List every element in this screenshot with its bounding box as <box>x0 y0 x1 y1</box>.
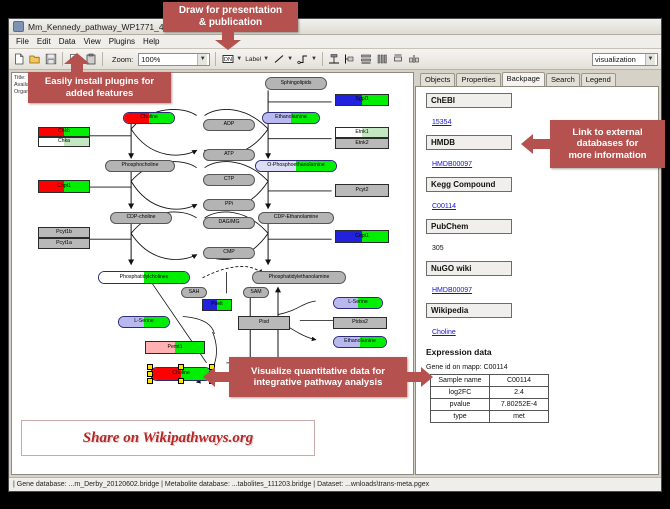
node-label: PPi <box>225 202 233 207</box>
selection-handle[interactable] <box>147 378 153 384</box>
db-entry-wikipedia: Wikipedia Choline <box>426 303 650 345</box>
new-file-icon[interactable] <box>12 53 25 66</box>
menu-item-help[interactable]: Help <box>139 35 163 48</box>
metabolite-node-ethanolamine-bottom[interactable]: Ethanolamine <box>333 336 387 348</box>
metabolite-node-cdp-choline[interactable]: CDP-choline <box>110 212 172 224</box>
callout-visualize-line2: integrative pathway analysis <box>254 377 383 388</box>
datanode-tool-icon[interactable]: DN <box>221 53 234 66</box>
gene-node-cept1[interactable]: Cept1 <box>335 230 389 243</box>
expression-table: Sample name C00114 log2FC 2.4 pvalue 7.8… <box>430 374 549 423</box>
callout-plugins-line1: Easily install plugins for <box>45 76 154 87</box>
tab-legend[interactable]: Legend <box>581 73 616 86</box>
db-name-wikipedia: Wikipedia <box>426 303 512 318</box>
chevron-down-icon: ▼ <box>645 54 655 65</box>
callout-draw-arrow-icon <box>213 32 243 50</box>
align-top-icon[interactable] <box>328 53 341 66</box>
chevron-down-icon[interactable]: ▼ <box>287 56 293 62</box>
metabolite-node-ctp[interactable]: CTP <box>203 174 255 186</box>
cell-key: log2FC <box>431 387 490 399</box>
node-label: Phosphatidylcholines <box>120 275 169 280</box>
cell-key: Sample name <box>431 375 490 387</box>
menu-item-plugins[interactable]: Plugins <box>105 35 139 48</box>
node-label: L-Serine <box>134 319 154 324</box>
title-bar: Mm_Kennedy_pathway_WP1771_45176.gpml <box>9 19 661 35</box>
status-text: | Gene database: ...m_Derby_20120602.bri… <box>13 481 429 488</box>
zoom-label: Zoom: <box>112 55 133 64</box>
node-label: Pisd <box>259 320 269 325</box>
node-label: CDP-Ethanolamine <box>274 215 318 220</box>
table-row: pvalue 7.80252E-4 <box>431 399 549 411</box>
metabolite-node-choline-top[interactable]: Choline <box>123 112 175 124</box>
chevron-down-icon[interactable]: ▼ <box>311 56 317 62</box>
node-label: SAH <box>189 290 200 295</box>
node-label: Pcyt2 <box>356 188 369 193</box>
node-label: Pemt1 <box>168 345 183 350</box>
metabolite-node-l-serine-right[interactable]: L-Serine <box>333 297 383 309</box>
node-label: Pcyt1b <box>56 230 72 235</box>
db-entry-kegg: Kegg Compound C00114 <box>426 177 650 219</box>
db-name-hmdb: HMDB <box>426 135 512 150</box>
visualization-value: visualization <box>595 55 636 64</box>
metabolite-node-sphingolipids[interactable]: Sphingolipids <box>265 77 327 90</box>
chevron-down-icon[interactable]: ▼ <box>236 56 242 62</box>
node-label: Ptdss2 <box>352 320 368 325</box>
cell-value: met <box>490 411 549 423</box>
metabolite-node-phosphocholine[interactable]: Phosphocholine <box>105 160 175 172</box>
label-tool-label[interactable]: Label <box>245 56 261 63</box>
cell-value: 7.80252E-4 <box>490 399 549 411</box>
save-icon[interactable] <box>44 53 57 66</box>
selection-handle[interactable] <box>147 364 153 370</box>
callout-link-line1: Link to external <box>572 127 642 138</box>
same-height-icon[interactable] <box>392 53 405 66</box>
callout-draw-line1: Draw for presentation <box>179 5 282 17</box>
db-name-nugo: NuGO wiki <box>426 261 512 276</box>
callout-link-external-databases: Link to external databases for more info… <box>550 120 665 168</box>
zoom-combobox[interactable]: 100% ▼ <box>138 53 210 66</box>
tab-objects[interactable]: Objects <box>420 73 455 86</box>
table-row: type met <box>431 411 549 423</box>
gene-node-pcyt1b[interactable]: Pcyt1b <box>38 227 90 238</box>
node-label: Sgpl1 <box>355 97 368 102</box>
node-label: Chpt1 <box>57 184 71 189</box>
node-label: Pcyt1a <box>56 241 72 246</box>
gene-node-etnk2[interactable]: Etnk2 <box>335 138 389 149</box>
metabolite-node-dagmg[interactable]: DAG/MG <box>203 217 255 229</box>
db-entry-pubchem: PubChem 305 <box>426 219 650 261</box>
node-label: Etnk2 <box>355 141 368 146</box>
gene-node-pemt1[interactable]: Pemt1 <box>145 341 205 354</box>
gene-node-chkb[interactable]: Chkb <box>38 127 90 137</box>
node-label: Phosphocholine <box>122 163 159 168</box>
meta-availability: Availa <box>14 82 29 89</box>
connector-tool-icon[interactable] <box>296 53 309 66</box>
gene-id-label: Gene id on mapp: C00114 <box>426 364 650 371</box>
db-name-chebi: ChEBI <box>426 93 512 108</box>
node-label: Chkb <box>58 129 70 134</box>
node-label: ATP <box>224 152 234 157</box>
tab-backpage[interactable]: Backpage <box>502 72 545 86</box>
cell-value: C00114 <box>490 375 549 387</box>
callout-plugins-arrow-icon <box>62 53 92 73</box>
selection-handle[interactable] <box>147 371 153 377</box>
node-label: L-Serine <box>348 300 368 305</box>
pathway-node-layer: SphingolipidsCholineEthanolamineADPATPPh… <box>12 73 413 474</box>
pathway-metadata: Title: Availa Organ <box>14 75 29 96</box>
node-label: CTP <box>224 177 234 182</box>
visualization-combobox[interactable]: visualization ▼ <box>592 53 658 66</box>
db-link-kegg[interactable]: C00114 <box>432 203 456 210</box>
app-icon <box>13 21 24 32</box>
gene-node-sgpl1[interactable]: Sgpl1 <box>335 94 389 106</box>
distribute-icon[interactable] <box>408 53 421 66</box>
meta-organism: Organ <box>14 89 29 96</box>
node-label: Cept1 <box>355 234 369 239</box>
table-row: Sample name C00114 <box>431 375 549 387</box>
metabolite-node-atp[interactable]: ATP <box>203 149 255 161</box>
callout-visualize-right-arrow-icon <box>403 366 433 388</box>
callout-easily-install-plugins: Easily install plugins for added feature… <box>28 72 171 103</box>
db-link-nugo[interactable]: HMDB00097 <box>432 287 472 294</box>
node-label: Choline <box>172 371 190 376</box>
gene-node-etnk1[interactable]: Etnk1 <box>335 127 389 138</box>
side-panel-tabs: Objects Properties Backpage Search Legen… <box>415 72 659 86</box>
menu-item-edit[interactable]: Edit <box>33 35 55 48</box>
same-width-icon[interactable] <box>376 53 389 66</box>
selection-handle[interactable] <box>178 378 184 384</box>
tool-bar: Zoom: 100% ▼ DN ▼ Label ▼ ▼ ▼ <box>9 49 661 70</box>
chevron-down-icon[interactable]: ▼ <box>263 56 269 62</box>
gene-node-pcyt1a[interactable]: Pcyt1a <box>38 238 90 249</box>
node-label: SAM <box>250 290 261 295</box>
db-link-wikipedia[interactable]: Choline <box>432 329 456 336</box>
node-label: Chka <box>58 139 70 144</box>
table-row: log2FC 2.4 <box>431 387 549 399</box>
db-name-kegg: Kegg Compound <box>426 177 512 192</box>
meta-title: Title: <box>14 75 29 82</box>
callout-link-line3: more information <box>568 150 646 161</box>
menu-item-view[interactable]: View <box>80 35 105 48</box>
toolbar-separator <box>215 52 216 66</box>
chevron-down-icon: ▼ <box>197 54 207 65</box>
metabolite-node-phosphatidylcholines[interactable]: Phosphatidylcholines <box>98 271 190 284</box>
toolbar-separator <box>102 52 103 66</box>
status-bar: | Gene database: ...m_Derby_20120602.bri… <box>9 477 661 491</box>
node-label: Ethanolamine <box>344 339 376 344</box>
metabolite-node-phosphatidylethanolamine[interactable]: Phosphatidylethanolamine <box>252 271 346 284</box>
callout-plugins-line2: added features <box>66 88 134 99</box>
node-label: DAG/MG <box>218 220 239 225</box>
node-label: CMP <box>223 250 235 255</box>
callout-visualize-line1: Visualize quantitative data for <box>251 366 385 377</box>
menu-item-file[interactable]: File <box>12 35 33 48</box>
db-link-hmdb[interactable]: HMDB00097 <box>432 161 472 168</box>
metabolite-node-sam[interactable]: SAM <box>243 287 269 298</box>
metabolite-node-o-phosphoethanolamine[interactable]: O-Phosphoethanolamine <box>255 160 337 172</box>
gene-node-chpt1[interactable]: Chpt1 <box>38 180 90 193</box>
node-label: CDP-choline <box>126 215 155 220</box>
metabolite-node-l-serine-left[interactable]: L-Serine <box>118 316 170 328</box>
gene-node-ptdss2[interactable]: Ptdss2 <box>333 317 387 329</box>
node-label: Ethanolamine <box>275 115 307 120</box>
callout-link-line2: databases for <box>577 138 639 149</box>
cell-value: 2.4 <box>490 387 549 399</box>
db-value-pubchem: 305 <box>432 245 444 252</box>
stack-vertical-icon[interactable] <box>360 53 373 66</box>
metabolite-node-ppi[interactable]: PPi <box>203 199 255 211</box>
node-label: O-Phosphoethanolamine <box>267 163 324 168</box>
svg-text:DN: DN <box>224 57 232 63</box>
pathway-canvas[interactable]: Title: Availa Organ <box>11 72 414 475</box>
selection-handle[interactable] <box>178 364 184 370</box>
tab-properties[interactable]: Properties <box>456 73 500 86</box>
db-link-chebi[interactable]: 15354 <box>432 119 451 126</box>
node-label: Choline <box>140 115 158 120</box>
tab-search[interactable]: Search <box>546 73 580 86</box>
open-folder-icon[interactable] <box>28 53 41 66</box>
gene-node-pselt[interactable]: Pselt <box>202 299 232 311</box>
callout-draw-for-presentation: Draw for presentation & publication <box>163 2 298 32</box>
metabolite-node-cdp-ethanolamine[interactable]: CDP-Ethanolamine <box>258 212 334 224</box>
menu-bar: File Edit Data View Plugins Help <box>9 35 661 49</box>
zoom-value: 100% <box>141 55 160 64</box>
db-entry-nugo: NuGO wiki HMDB00097 <box>426 261 650 303</box>
metabolite-node-ethanolamine[interactable]: Ethanolamine <box>262 112 320 124</box>
node-label: Etnk1 <box>355 130 368 135</box>
node-label: Pselt <box>211 302 223 307</box>
gene-node-pcyt2[interactable]: Pcyt2 <box>335 184 389 197</box>
callout-share-on-wikipathways: Share on Wikipathways.org <box>21 420 315 456</box>
toolbar-separator <box>322 52 323 66</box>
expression-data-heading: Expression data <box>426 347 650 357</box>
callout-link-arrow-icon <box>521 133 553 155</box>
line-tool-icon[interactable] <box>272 53 285 66</box>
gene-node-chka[interactable]: Chka <box>38 137 90 147</box>
metabolite-node-cmp[interactable]: CMP <box>203 247 255 259</box>
screenshot-root: Mm_Kennedy_pathway_WP1771_45176.gpml Fil… <box>0 0 670 509</box>
callout-draw-line2: & publication <box>199 17 262 29</box>
db-name-pubchem: PubChem <box>426 219 512 234</box>
gene-node-pisd[interactable]: Pisd <box>238 316 290 330</box>
callout-visualize-left-arrow-icon <box>203 366 233 388</box>
cell-key: type <box>431 411 490 423</box>
menu-item-data[interactable]: Data <box>55 35 80 48</box>
metabolite-node-sah[interactable]: SAH <box>181 287 207 298</box>
node-label: ADP <box>224 122 235 127</box>
share-text: Share on Wikipathways.org <box>83 430 253 447</box>
callout-visualize-quantitative-data: Visualize quantitative data for integrat… <box>229 357 407 397</box>
node-label: Sphingolipids <box>281 81 312 86</box>
node-label: Phosphatidylethanolamine <box>269 275 330 280</box>
metabolite-node-adp[interactable]: ADP <box>203 119 255 131</box>
scroll-nub[interactable]: ◂ <box>415 463 416 472</box>
align-left-icon[interactable] <box>344 53 357 66</box>
cell-key: pvalue <box>431 399 490 411</box>
